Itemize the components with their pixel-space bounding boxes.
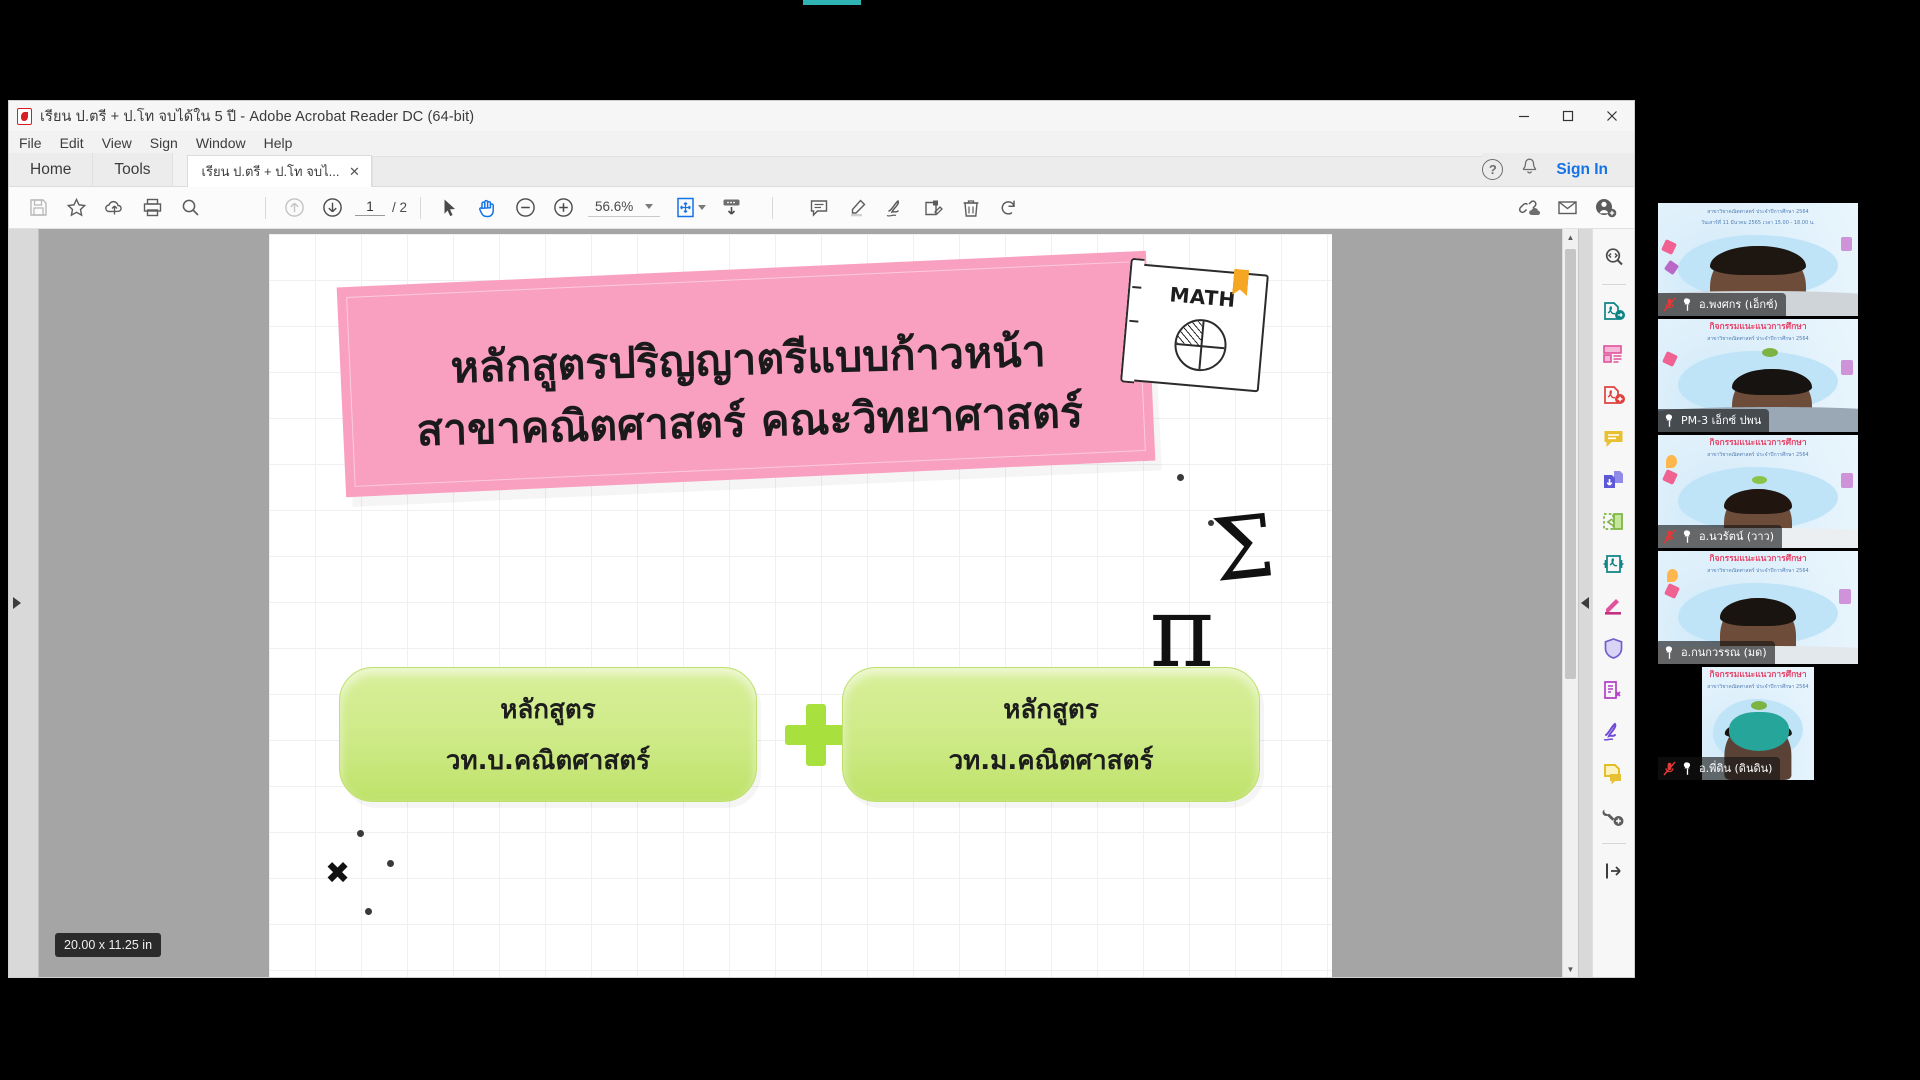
close-icon[interactable]: ✕ — [347, 164, 361, 180]
decorative-dot — [1208, 520, 1214, 526]
email-envelope-icon[interactable] — [1548, 190, 1586, 226]
organize-pages-icon[interactable] — [1595, 502, 1633, 542]
maximize-button[interactable] — [1546, 101, 1590, 131]
zoom-level-value: 56.6% — [595, 199, 633, 214]
previous-page-arrow-up-icon[interactable] — [275, 190, 313, 226]
page-number-input[interactable] — [355, 199, 385, 216]
bottom-black-area — [0, 980, 1920, 1080]
fit-page-chevron-down-icon[interactable] — [698, 205, 706, 210]
slide-header-3: กิจกรรมแนะแนวการศึกษา สาขาวิชาคณิตศาสตร์… — [1658, 438, 1858, 459]
menu-view[interactable]: View — [101, 135, 133, 151]
scroll-up-arrow-icon[interactable]: ▲ — [1563, 229, 1578, 245]
curriculum-box-master: หลักสูตร วท.ม.คณิตศาสตร์ — [842, 667, 1260, 802]
plus-sign-icon — [785, 704, 847, 766]
participant-namebar-2: PM-3 เอ็กซ์ ปพน — [1658, 409, 1769, 432]
annotation-tools-group — [800, 190, 1028, 226]
page-scroll-mode-icon[interactable] — [712, 190, 750, 226]
participant-namebar-3: อ.นวรัตน์ (วาว) — [1658, 525, 1782, 548]
participant-name-3: อ.นวรัตน์ (วาว) — [1699, 527, 1774, 545]
combine-files-icon[interactable] — [1595, 460, 1633, 500]
participant-name-5: อ.พี่ดิน (ดินดิน) — [1699, 759, 1772, 777]
curriculum-box-master-line-1: หลักสูตร — [1003, 689, 1099, 730]
zoom-level-combobox[interactable]: 56.6% — [588, 199, 660, 217]
hand-pan-tool-icon[interactable] — [468, 190, 506, 226]
search-magnifier-icon[interactable] — [171, 190, 209, 226]
page-total-label: / 2 — [392, 200, 407, 215]
add-to-favorites-star-icon[interactable] — [57, 190, 95, 226]
top-teal-sliver — [803, 0, 861, 5]
view-tools-group: 56.6% — [430, 190, 750, 226]
menu-sign[interactable]: Sign — [149, 135, 179, 151]
video-tile-participant-3[interactable]: กิจกรรมแนะแนวการศึกษา สาขาวิชาคณิตศาสตร์… — [1658, 435, 1858, 548]
participant-name-2: PM-3 เอ็กซ์ ปพน — [1681, 411, 1761, 429]
sign-in-button[interactable]: Sign In — [1556, 161, 1616, 179]
toolbar-divider — [265, 197, 266, 219]
video-tile-participant-4[interactable]: กิจกรรมแนะแนวการศึกษา สาขาวิชาคณิตศาสตร์… — [1658, 551, 1858, 664]
window-controls — [1502, 101, 1634, 131]
stamp-note-icon[interactable] — [1595, 754, 1633, 794]
share-link-cloud-icon[interactable] — [1510, 190, 1548, 226]
next-page-arrow-down-icon[interactable] — [313, 190, 351, 226]
pdf-page-1: หลักสูตรปริญญาตรีแบบก้าวหน้า สาขาคณิตศาส… — [269, 234, 1332, 977]
menu-help[interactable]: Help — [263, 135, 294, 151]
scrollbar-thumb[interactable] — [1565, 249, 1576, 679]
tabstrip-actions: ? Sign In — [1482, 153, 1634, 186]
decorative-dot — [365, 908, 372, 915]
participant-namebar-1: อ.พงศกร (เอ็กซ์) — [1658, 293, 1786, 316]
delete-trash-icon[interactable] — [952, 190, 990, 226]
decorative-dot — [357, 830, 364, 837]
request-signature-icon[interactable] — [1595, 712, 1633, 752]
menu-edit[interactable]: Edit — [59, 135, 85, 151]
video-tile-participant-1[interactable]: สาขาวิชาคณิตศาสตร์ ประจำปีการศึกษา 2564 … — [1658, 203, 1858, 316]
question-mark-icon[interactable]: ? — [1482, 159, 1503, 180]
select-cursor-icon[interactable] — [430, 190, 468, 226]
decorative-dot — [1177, 474, 1184, 481]
toolbar-divider-3 — [772, 197, 773, 219]
create-pdf-icon[interactable] — [1595, 334, 1633, 374]
stamp-icon[interactable] — [914, 190, 952, 226]
close-button[interactable] — [1590, 101, 1634, 131]
highlighter-icon[interactable] — [838, 190, 876, 226]
toolbar-right-group — [1510, 190, 1624, 226]
menu-file[interactable]: File — [18, 135, 43, 151]
pin-icon — [1663, 645, 1676, 660]
collapse-right-pane-icon[interactable] — [1581, 597, 1589, 609]
home-button[interactable]: Home — [9, 153, 93, 186]
video-tile-participant-5[interactable]: กิจกรรมแนะแนวการศึกษา สาขาวิชาคณิตศาสตร์… — [1658, 667, 1858, 780]
left-navigation-pane[interactable] — [9, 229, 39, 977]
right-pane-collapse-rail[interactable] — [1578, 229, 1592, 977]
search-text-icon[interactable] — [1595, 237, 1633, 277]
curriculum-box-bachelor-line-2: วท.บ.คณิตศาสตร์ — [446, 740, 650, 781]
curriculum-box-bachelor: หลักสูตร วท.บ.คณิตศาสตร์ — [339, 667, 757, 802]
page-number-box: / 2 — [355, 199, 407, 216]
rotate-clockwise-icon[interactable] — [990, 190, 1028, 226]
fill-and-sign-icon[interactable] — [876, 190, 914, 226]
tabstrip-empty-space — [372, 156, 1482, 186]
x-symbol: ✖ — [325, 859, 350, 889]
document-tab-label: เรียน ป.ตรี + ป.โท จบไ... — [202, 161, 340, 182]
rail-divider-2 — [1602, 843, 1626, 844]
participant-name-4: อ.กนกวรรณ (มด) — [1681, 643, 1767, 661]
microphone-muted-icon — [1663, 761, 1676, 776]
sigma-symbol: Σ — [1209, 503, 1278, 595]
participant-namebar-5: อ.พี่ดิน (ดินดิน) — [1658, 757, 1780, 780]
window-titlebar: เรียน ป.ตรี + ป.โท จบได้ใน 5 ปี - Adobe … — [9, 101, 1634, 131]
microphone-muted-icon — [1663, 297, 1676, 312]
page-size-tooltip: 20.00 x 11.25 in — [55, 933, 161, 957]
file-tools-group — [19, 190, 209, 226]
scrollbar-track[interactable] — [1563, 245, 1578, 961]
comment-icon[interactable] — [1595, 418, 1633, 458]
decorative-dot — [387, 860, 394, 867]
slide-header-4: กิจกรรมแนะแนวการศึกษา สาขาวิชาคณิตศาสตร์… — [1658, 554, 1858, 575]
pin-icon — [1681, 297, 1694, 312]
fill-sign-icon[interactable] — [1595, 670, 1633, 710]
edit-pdf-icon[interactable] — [1595, 376, 1633, 416]
collapse-panel-icon[interactable] — [1595, 851, 1633, 891]
document-vertical-scrollbar[interactable]: ▲ ▼ — [1562, 229, 1578, 977]
more-tools-icon[interactable] — [1595, 796, 1633, 836]
participant-namebar-4: อ.กนกวรรณ (มด) — [1658, 641, 1775, 664]
tabstrip: Home Tools เรียน ป.ตรี + ป.โท จบไ... ✕ ?… — [9, 154, 1634, 187]
pin-icon — [1663, 413, 1676, 428]
chevron-down-icon[interactable] — [645, 204, 653, 209]
participant-name-1: อ.พงศกร (เอ็กซ์) — [1699, 295, 1778, 313]
bell-notification-icon[interactable] — [1520, 157, 1539, 182]
page-nav-group: / 2 — [275, 190, 411, 226]
zoom-in-plus-icon[interactable] — [544, 190, 582, 226]
minimize-button[interactable] — [1502, 101, 1546, 131]
main-toolbar: / 2 56.6% — [9, 187, 1634, 229]
slide-header-1: สาขาวิชาคณิตศาสตร์ ประจำปีการศึกษา 2564 … — [1658, 206, 1858, 227]
pin-icon — [1681, 761, 1694, 776]
slide-header-2: กิจกรรมแนะแนวการศึกษา สาขาวิชาคณิตศาสตร์… — [1658, 322, 1858, 343]
notebook-circle-diagram — [1172, 317, 1228, 373]
microphone-muted-icon — [1663, 529, 1676, 544]
page-title: หลักสูตรปริญญาตรีแบบก้าวหน้า สาขาคณิตศาส… — [337, 318, 1160, 466]
curriculum-box-bachelor-line-1: หลักสูตร — [500, 689, 596, 730]
page-scroll-area[interactable]: หลักสูตรปริญญาตรีแบบก้าวหน้า สาขาคณิตศาส… — [39, 229, 1562, 977]
save-disk-icon[interactable] — [19, 190, 57, 226]
menu-window[interactable]: Window — [195, 135, 247, 151]
pdf-logo-icon — [17, 108, 32, 125]
scroll-down-arrow-icon[interactable]: ▼ — [1563, 961, 1578, 977]
expand-left-pane-icon[interactable] — [13, 597, 21, 609]
menubar: File Edit View Sign Window Help — [9, 131, 1634, 154]
export-pdf-icon[interactable] — [1595, 292, 1633, 332]
zoom-participant-strip: สาขาวิชาคณิตศาสตร์ ประจำปีการศึกษา 2564 … — [1658, 203, 1858, 780]
document-viewport: หลักสูตรปริญญาตรีแบบก้าวหน้า สาขาคณิตศาส… — [9, 229, 1634, 977]
tools-button[interactable]: Tools — [93, 153, 172, 186]
rail-divider — [1602, 284, 1626, 285]
redact-icon[interactable] — [1595, 586, 1633, 626]
add-comment-icon[interactable] — [800, 190, 838, 226]
tools-rail — [1592, 229, 1634, 977]
slide-header-5: กิจกรรมแนะแนวการศึกษา สาขาวิชาคณิตศาสตร์… — [1702, 670, 1814, 691]
document-tab[interactable]: เรียน ป.ตรี + ป.โท จบไ... ✕ — [187, 155, 373, 187]
video-tile-participant-2[interactable]: กิจกรรมแนะแนวการศึกษา สาขาวิชาคณิตศาสตร์… — [1658, 319, 1858, 432]
compress-pdf-icon[interactable] — [1595, 544, 1633, 584]
acrobat-reader-window: เรียน ป.ตรี + ป.โท จบได้ใน 5 ปี - Adobe … — [8, 100, 1635, 978]
print-icon[interactable] — [133, 190, 171, 226]
zoom-out-minus-icon[interactable] — [506, 190, 544, 226]
toolbar-divider-2 — [420, 197, 421, 219]
window-title: เรียน ป.ตรี + ป.โท จบได้ใน 5 ปี - Adobe … — [40, 105, 474, 128]
curriculum-box-master-line-2: วท.ม.คณิตศาสตร์ — [949, 740, 1154, 781]
pin-icon — [1681, 529, 1694, 544]
protect-icon[interactable] — [1595, 628, 1633, 668]
add-person-icon[interactable] — [1586, 190, 1624, 226]
upload-to-cloud-icon[interactable] — [95, 190, 133, 226]
